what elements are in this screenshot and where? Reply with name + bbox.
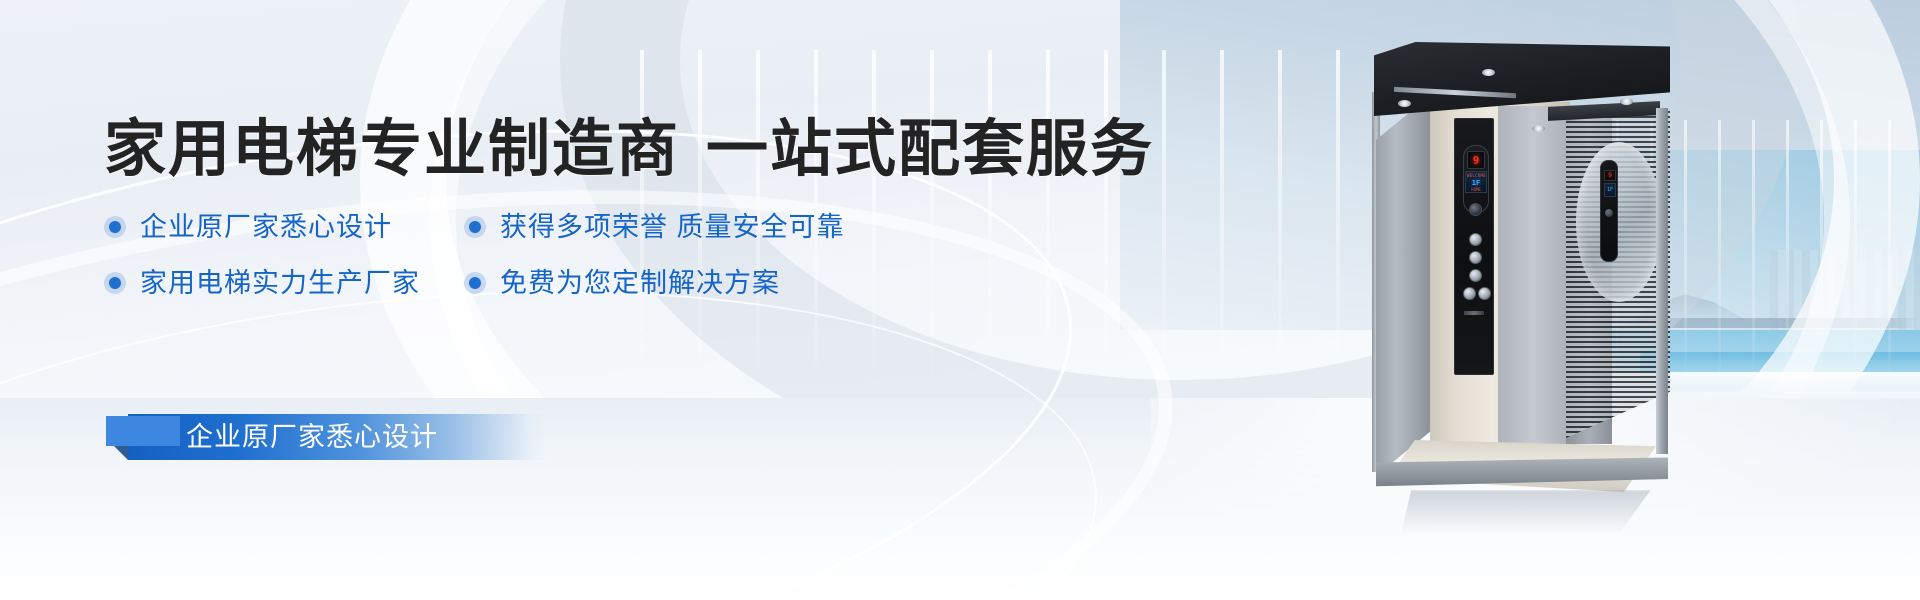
door-close-button xyxy=(1478,287,1491,300)
feature-label: 获得多项荣誉 质量安全可靠 xyxy=(500,212,845,242)
feature-item-3: 家用电梯实力生产厂家 xyxy=(104,268,464,298)
headline-part-2: 一站式配套服务 xyxy=(706,115,1154,184)
headline-part-1: 家用电梯专业制造商 xyxy=(104,115,680,184)
feature-label: 企业原厂家悉心设计 xyxy=(140,212,392,242)
bullet-dot-icon xyxy=(104,272,126,294)
bullet-dot-icon xyxy=(464,272,486,294)
feature-list: 企业原厂家悉心设计 获得多项荣誉 质量安全可靠 家用电梯实力生产厂家 免费为您定… xyxy=(104,212,984,324)
feature-item-1: 企业原厂家悉心设计 xyxy=(104,212,464,242)
lcd-main-line: 1F xyxy=(1467,179,1485,187)
feature-item-2: 获得多项荣誉 质量安全可靠 xyxy=(464,212,845,242)
ceiling-spotlight-icon xyxy=(1482,69,1495,76)
elevator-product-image: 9 1F 9 WELCOME 1F HOME xyxy=(1370,42,1670,492)
elevator-control-panel-reflection: 9 1F xyxy=(1600,160,1618,262)
speaker-grille-reflection xyxy=(1605,209,1613,217)
control-panel-brand-mark xyxy=(1464,311,1484,315)
elevator-frame-right xyxy=(1656,108,1668,454)
feature-label: 家用电梯实力生产厂家 xyxy=(140,268,420,298)
lcd-display: WELCOME 1F HOME xyxy=(1465,171,1487,193)
floor-indicator-reflection: 9 xyxy=(1604,170,1616,181)
tag-label: 企业原厂家悉心设计 xyxy=(186,422,438,452)
floor-button xyxy=(1469,251,1482,264)
elevator-wall-back-panel xyxy=(1498,106,1576,458)
elevator-wall-left xyxy=(1376,94,1432,476)
page-title: 家用电梯专业制造商一站式配套服务 xyxy=(104,114,1154,186)
highlight-tag: 企业原厂家悉心设计 xyxy=(128,414,548,460)
floor-indicator-display: 9 xyxy=(1467,151,1485,169)
feature-row: 企业原厂家悉心设计 获得多项荣誉 质量安全可靠 xyxy=(104,212,984,268)
bullet-dot-icon xyxy=(464,216,486,238)
ceiling-spotlight-icon xyxy=(1398,100,1411,107)
feature-label: 免费为您定制解决方案 xyxy=(500,268,780,298)
banner-stage: 9 1F 9 WELCOME 1F HOME xyxy=(0,0,1920,600)
floor-button xyxy=(1469,233,1482,246)
bullet-dot-icon xyxy=(104,216,126,238)
elevator-oval-mirror xyxy=(1576,142,1662,302)
speaker-grille-icon xyxy=(1469,203,1482,216)
floor-button xyxy=(1469,269,1482,282)
lcd-bottom-line: HOME xyxy=(1467,187,1485,192)
feature-item-4: 免费为您定制解决方案 xyxy=(464,268,780,298)
elevator-floor-reflection xyxy=(1390,490,1656,534)
lcd-display-reflection: 1F xyxy=(1604,183,1616,197)
ceiling-spotlight-icon xyxy=(1620,98,1633,105)
door-open-button xyxy=(1463,287,1476,300)
lcd-top-line: WELCOME xyxy=(1467,173,1485,178)
ceiling-spotlight-icon xyxy=(1532,125,1545,132)
elevator-control-panel: 9 WELCOME 1F HOME xyxy=(1454,118,1494,375)
feature-row: 家用电梯实力生产厂家 免费为您定制解决方案 xyxy=(104,268,984,324)
tag-tab-shape xyxy=(106,416,180,446)
